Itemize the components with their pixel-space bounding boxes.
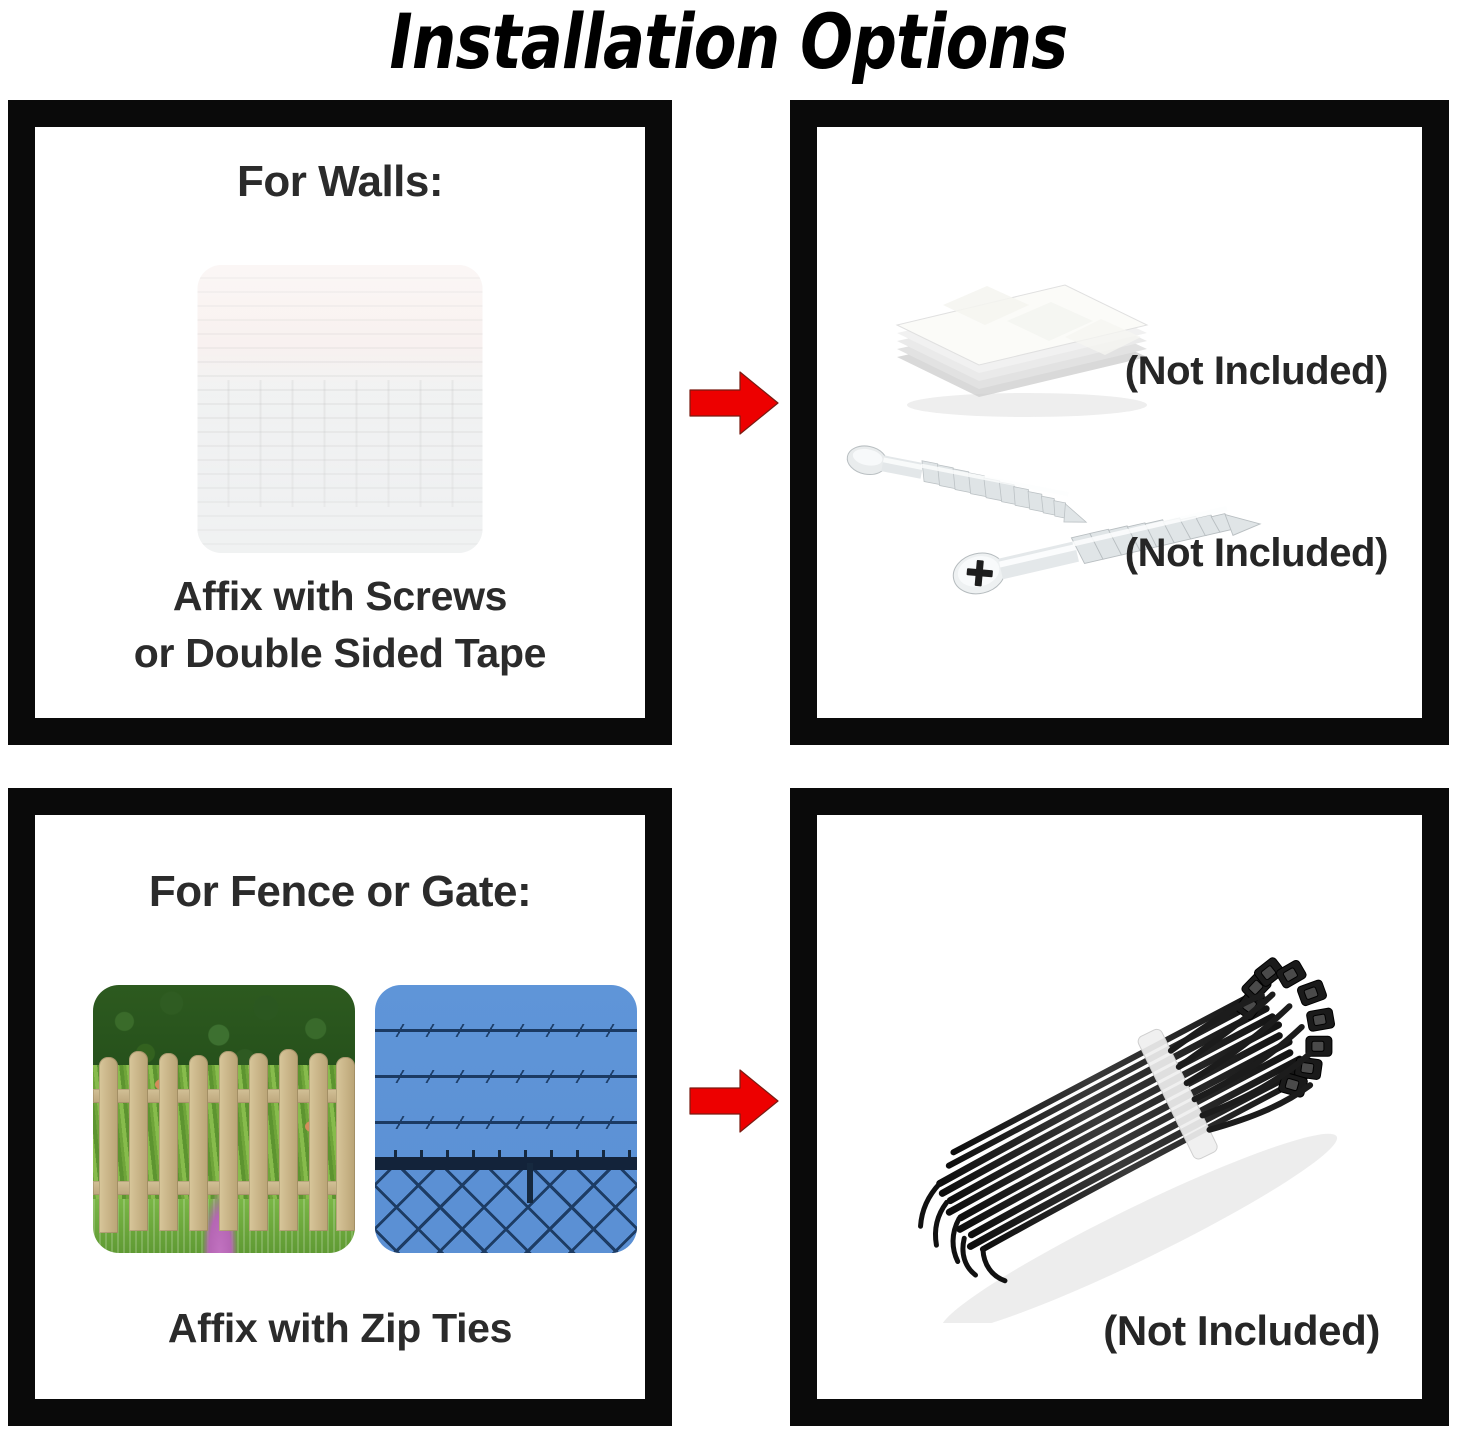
fence-picket xyxy=(129,1051,148,1231)
panel-for-fence-caption: Affix with Zip Ties xyxy=(35,1300,645,1357)
fence-picket xyxy=(159,1053,178,1231)
fence-picket xyxy=(336,1057,355,1231)
fence-picket xyxy=(219,1051,238,1231)
caption-line-1: Affix with Screws xyxy=(35,568,645,625)
chain-link-mesh xyxy=(375,1170,637,1253)
panel-for-fence-heading: For Fence or Gate: xyxy=(35,867,645,917)
fence-picket xyxy=(279,1049,298,1231)
barbed-wire-strand xyxy=(375,1029,637,1032)
zip-ties-not-included-label: (Not Included) xyxy=(1103,1307,1380,1355)
fence-picket xyxy=(99,1057,118,1233)
panel-for-walls-caption: Affix with Screws or Double Sided Tape xyxy=(35,568,645,682)
page-title: Installation Options xyxy=(131,0,1326,88)
panel-for-fence-or-gate: For Fence or Gate: xyxy=(8,788,672,1426)
red-arrow-right-icon xyxy=(688,370,780,436)
red-arrow-right-icon xyxy=(688,1068,780,1134)
panel-for-walls-heading: For Walls: xyxy=(35,157,645,207)
panel-for-fence-inner: For Fence or Gate: xyxy=(35,815,645,1399)
caption-line-2: or Double Sided Tape xyxy=(35,625,645,682)
panel-for-walls: For Walls: Affix with Screws or Double S… xyxy=(8,100,672,745)
fence-post xyxy=(527,1163,533,1203)
wooden-picket-fence-image xyxy=(93,985,355,1253)
fence-top-rail xyxy=(375,1157,637,1170)
brick-whitewash-overlay xyxy=(198,265,483,553)
fence-picket xyxy=(189,1055,208,1231)
double-sided-tape-stack-image xyxy=(879,245,1179,435)
panel-zip-ties: (Not Included) xyxy=(790,788,1449,1426)
tape-not-included-label: (Not Included) xyxy=(1125,349,1388,394)
panel-hardware: (Not Included) xyxy=(790,100,1449,745)
panel-zip-ties-inner: (Not Included) xyxy=(817,815,1422,1399)
barbed-wire-strand xyxy=(375,1075,637,1078)
barbed-wire-strand xyxy=(375,1121,637,1124)
panel-hardware-inner: (Not Included) xyxy=(817,127,1422,718)
chain-link-fence-barbed-wire-image xyxy=(375,985,637,1253)
panel-for-walls-inner: For Walls: Affix with Screws or Double S… xyxy=(35,127,645,718)
screws-not-included-label: (Not Included) xyxy=(1125,531,1388,576)
fence-picket xyxy=(249,1053,268,1231)
installation-options-infographic: Installation Options For Walls: Affix wi… xyxy=(0,0,1457,1434)
fence-picket xyxy=(309,1053,328,1231)
white-brick-wall-image xyxy=(198,265,483,553)
black-zip-ties-bundle-image xyxy=(869,903,1409,1323)
